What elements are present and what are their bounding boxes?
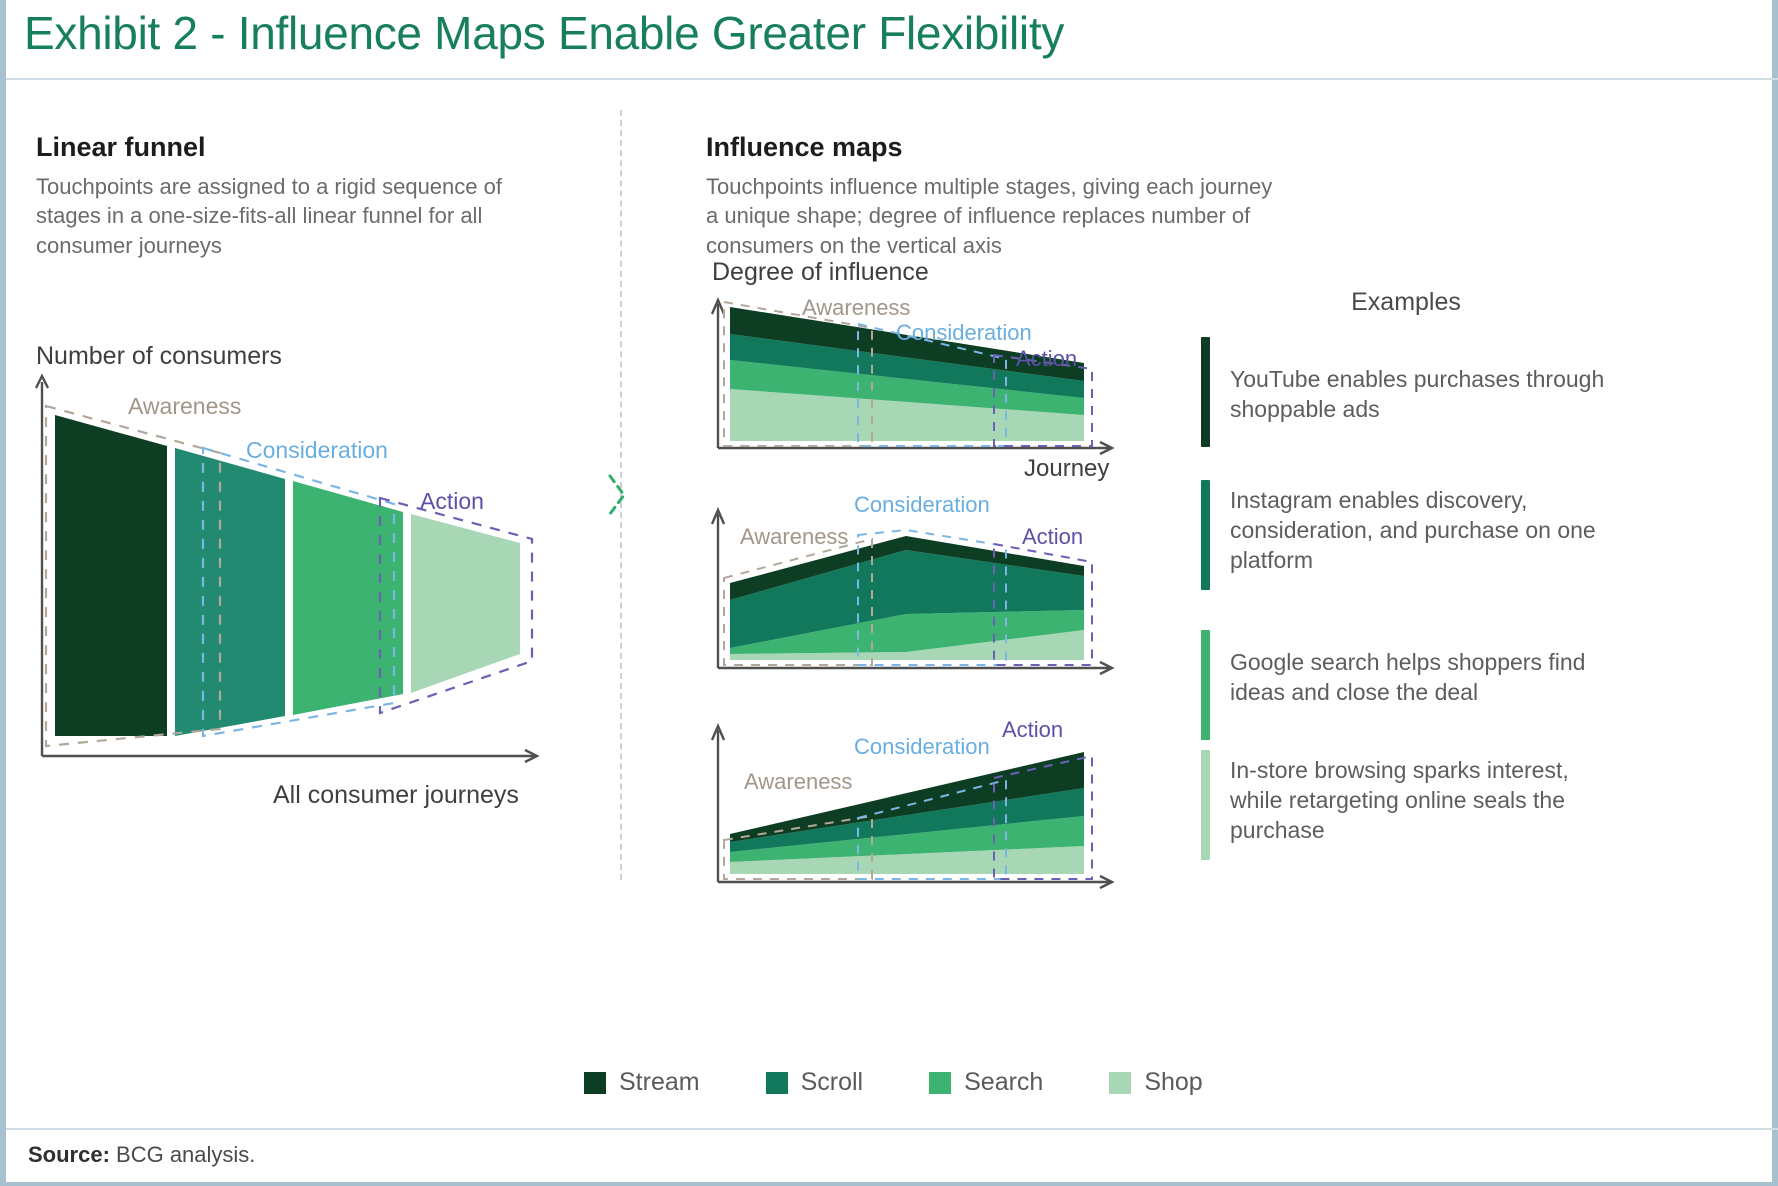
header-divider xyxy=(6,78,1778,80)
example-accent-bar xyxy=(1201,337,1210,447)
funnel-stage-label-consideration: Consideration xyxy=(246,437,388,463)
legend-item-search: Search xyxy=(929,1068,1043,1097)
imap1-y-axis-label: Degree of influence xyxy=(712,258,929,286)
examples-panel: Examples xyxy=(1196,288,1776,317)
influence-maps-heading: Influence maps xyxy=(706,132,1286,163)
influence-map-peaked: Awareness Consideration Action xyxy=(706,488,1146,683)
legend-swatch-scroll xyxy=(766,1072,788,1094)
footer-bar xyxy=(6,1182,1778,1186)
example-text: YouTube enables purchases through shoppa… xyxy=(1230,337,1621,424)
imap2-stage-label-consideration: Consideration xyxy=(854,492,990,517)
funnel-y-axis-label: Number of consumers xyxy=(36,342,282,370)
legend-swatch-shop xyxy=(1109,1072,1131,1094)
imap1-stage-label-awareness: Awareness xyxy=(802,295,910,320)
example-accent-bar xyxy=(1201,750,1210,860)
exhibit-page: Exhibit 2 - Influence Maps Enable Greate… xyxy=(0,0,1778,1186)
legend-item-scroll: Scroll xyxy=(766,1068,864,1097)
examples-title: Examples xyxy=(1196,288,1616,317)
example-text: Instagram enables discovery, considerati… xyxy=(1230,480,1621,575)
imap3-stage-label-action: Action xyxy=(1002,717,1063,742)
legend-label-stream: Stream xyxy=(619,1068,700,1097)
funnel-stage-label-awareness: Awareness xyxy=(128,393,241,419)
legend-item-stream: Stream xyxy=(584,1068,700,1097)
legend-label-shop: Shop xyxy=(1144,1068,1202,1097)
example-accent-bar xyxy=(1201,480,1210,590)
imap2-stage-label-awareness: Awareness xyxy=(740,524,848,549)
influence-maps-heading-block: Influence maps Touchpoints influence mul… xyxy=(706,132,1286,260)
legend-swatch-stream xyxy=(584,1072,606,1094)
imap3-stage-label-consideration: Consideration xyxy=(854,734,990,759)
source-note: Source: BCG analysis. xyxy=(28,1142,255,1168)
imap1-stage-label-action: Action xyxy=(1016,346,1077,371)
legend-label-search: Search xyxy=(964,1068,1043,1097)
example-item-instore: In-store browsing sparks interest, while… xyxy=(1201,750,1621,865)
funnel-segment-stream xyxy=(55,415,167,736)
linear-funnel-description: Touchpoints are assigned to a rigid sequ… xyxy=(36,172,566,260)
example-item-youtube: YouTube enables purchases through shoppa… xyxy=(1201,337,1621,452)
imap2-bands xyxy=(730,536,1084,660)
funnel-segment-search xyxy=(293,481,403,715)
legend-swatch-search xyxy=(929,1072,951,1094)
footer-divider xyxy=(6,1128,1778,1130)
source-label: Source: xyxy=(28,1142,110,1167)
linear-funnel-heading-block: Linear funnel Touchpoints are assigned t… xyxy=(36,132,566,260)
imap3-stage-label-awareness: Awareness xyxy=(744,769,852,794)
imap2-stage-label-action: Action xyxy=(1022,524,1083,549)
source-text: BCG analysis. xyxy=(110,1142,256,1167)
legend-label-scroll: Scroll xyxy=(801,1068,864,1097)
influence-map-rising: Awareness Consideration Action xyxy=(706,712,1146,897)
imap1-x-axis-label: Journey xyxy=(1024,455,1109,482)
funnel-segment-shop xyxy=(411,514,520,693)
funnel-x-axis-label: All consumer journeys xyxy=(273,781,519,809)
chart-legend: Stream Scroll Search Shop xyxy=(584,1068,1269,1097)
example-item-instagram: Instagram enables discovery, considerati… xyxy=(1201,480,1621,595)
page-title: Exhibit 2 - Influence Maps Enable Greate… xyxy=(24,6,1064,60)
linear-funnel-heading: Linear funnel xyxy=(36,132,566,163)
example-text: In-store browsing sparks interest, while… xyxy=(1230,750,1621,845)
linear-funnel-chart: Number of consumers Awareness Considerat… xyxy=(20,336,620,816)
influence-map-declining: Degree of influence Awareness Considerat… xyxy=(706,258,1146,488)
example-accent-bar xyxy=(1201,630,1210,740)
funnel-segment-scroll xyxy=(175,448,285,736)
legend-item-shop: Shop xyxy=(1109,1068,1202,1097)
imap1-stage-label-consideration: Consideration xyxy=(896,320,1032,345)
funnel-stage-label-action: Action xyxy=(420,488,484,514)
influence-maps-description: Touchpoints influence multiple stages, g… xyxy=(706,172,1286,260)
example-text: Google search helps shoppers find ideas … xyxy=(1230,630,1621,707)
example-item-google: Google search helps shoppers find ideas … xyxy=(1201,630,1621,745)
